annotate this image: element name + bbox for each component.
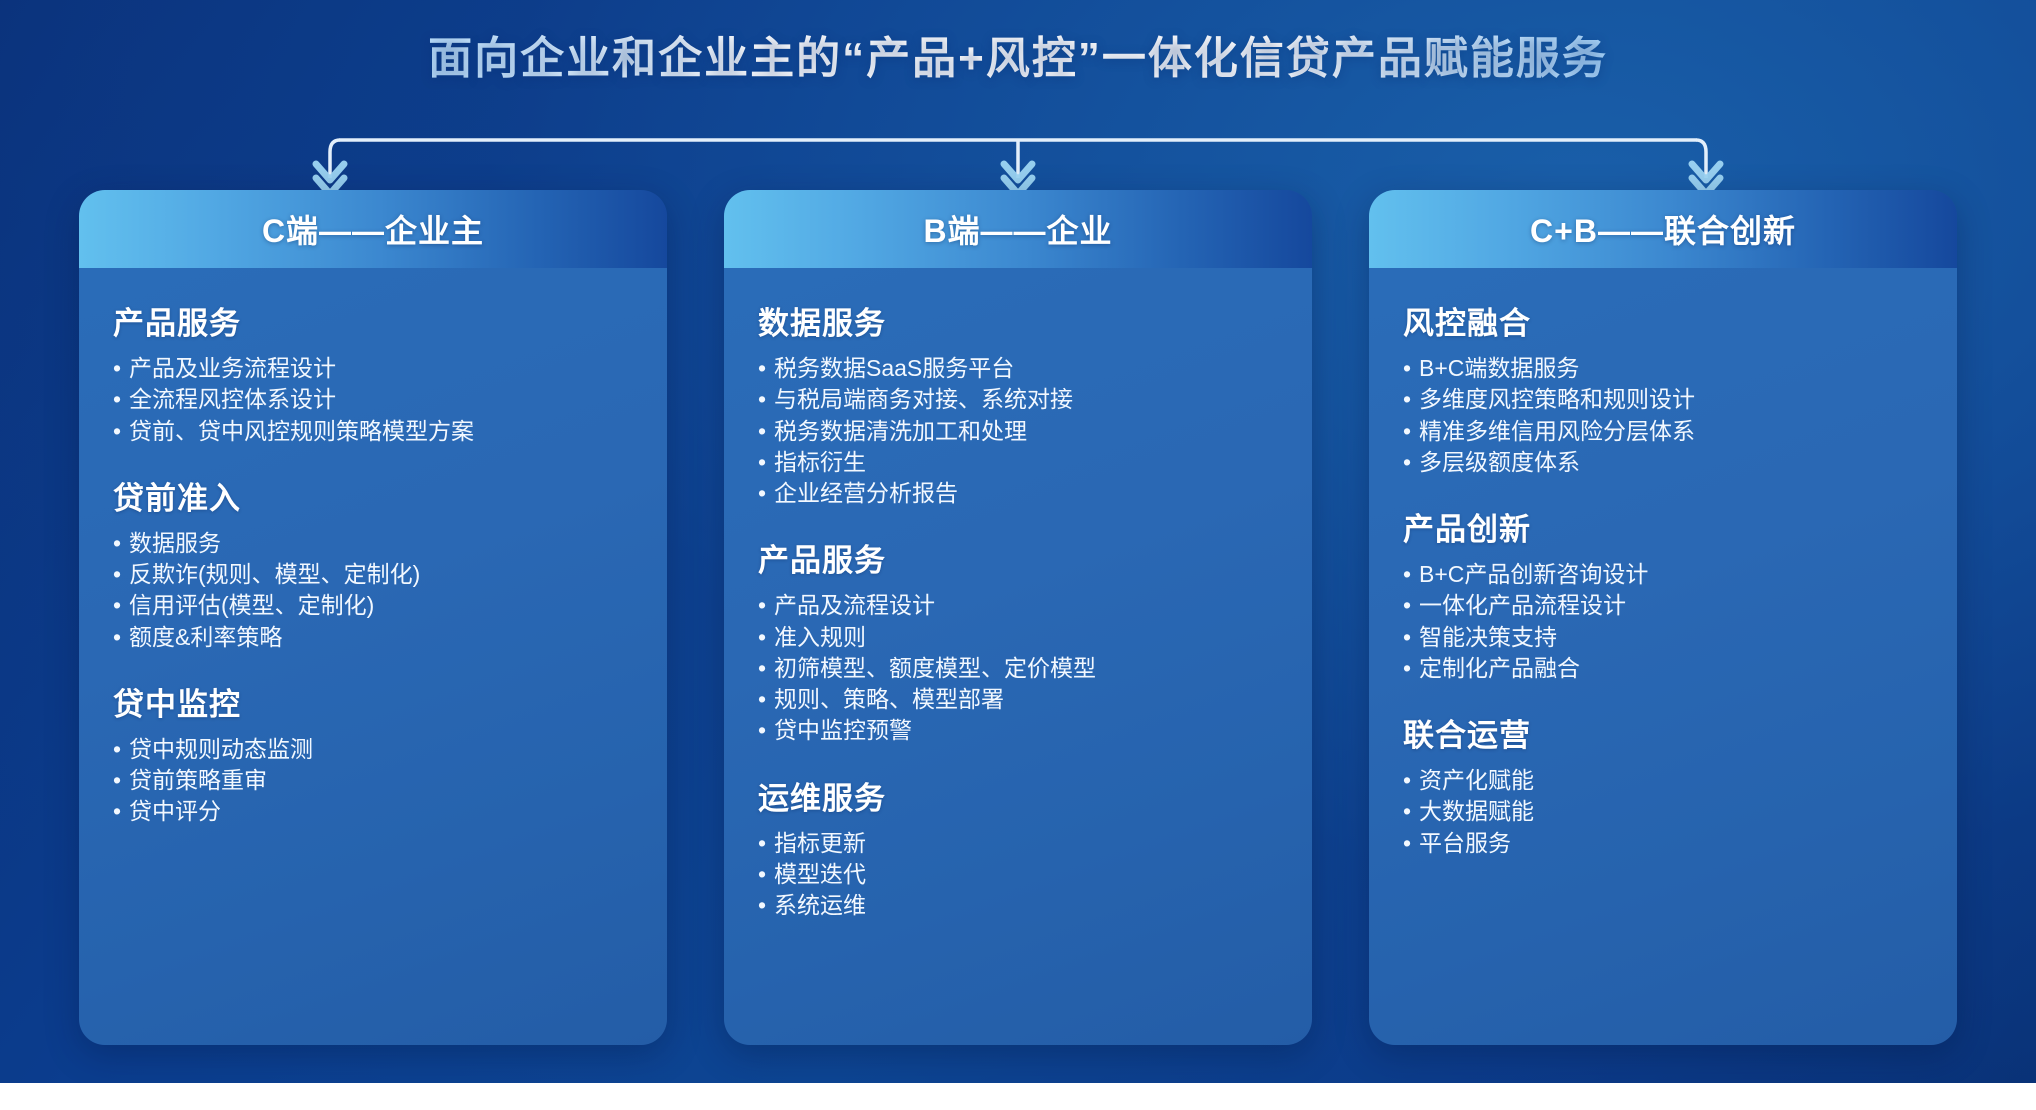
list-item: 一体化产品流程设计: [1403, 590, 1923, 621]
bullet-list: B+C产品创新咨询设计 一体化产品流程设计 智能决策支持 定制化产品融合: [1403, 559, 1923, 684]
bullet-list: 贷中规则动态监测 贷前策略重审 贷中评分: [113, 734, 633, 828]
section-group: 产品创新 B+C产品创新咨询设计 一体化产品流程设计 智能决策支持 定制化产品融…: [1403, 504, 1923, 684]
section-title: 运维服务: [758, 773, 1278, 818]
card-cb-joint[interactable]: C+B——联合创新 风控融合 B+C端数据服务 多维度风控策略和规则设计 精准多…: [1369, 190, 1957, 1045]
list-item: 税务数据SaaS服务平台: [758, 353, 1278, 384]
list-item: 模型迭代: [758, 859, 1278, 890]
list-item: 与税局端商务对接、系统对接: [758, 384, 1278, 415]
list-item: 定制化产品融合: [1403, 653, 1923, 684]
list-item: 贷中监控预警: [758, 715, 1278, 746]
list-item: 指标衍生: [758, 447, 1278, 478]
card-title: C端——企业主: [262, 206, 484, 252]
list-item: 初筛模型、额度模型、定价模型: [758, 653, 1278, 684]
section-group: 运维服务 指标更新 模型迭代 系统运维: [758, 773, 1278, 922]
card-title: C+B——联合创新: [1530, 206, 1796, 252]
bullet-list: 产品及流程设计 准入规则 初筛模型、额度模型、定价模型 规则、策略、模型部署 贷…: [758, 590, 1278, 746]
section-group: 产品服务 产品及业务流程设计 全流程风控体系设计 贷前、贷中风控规则策略模型方案: [113, 298, 633, 447]
list-item: 企业经营分析报告: [758, 478, 1278, 509]
bottom-strip: [0, 1083, 2036, 1110]
list-item: 信用评估(模型、定制化): [113, 590, 633, 621]
list-item: 贷前策略重审: [113, 765, 633, 796]
list-item: 指标更新: [758, 828, 1278, 859]
card-header-b-end: B端——企业: [724, 190, 1312, 268]
list-item: 反欺诈(规则、模型、定制化): [113, 559, 633, 590]
slide-canvas: 面向企业和企业主的“产品+风控”一体化信贷产品赋能服务 C端——企业主 产品服务: [0, 0, 2036, 1083]
list-item: 多维度风控策略和规则设计: [1403, 384, 1923, 415]
card-header-cb-joint: C+B——联合创新: [1369, 190, 1957, 268]
list-item: B+C产品创新咨询设计: [1403, 559, 1923, 590]
list-item: 贷中评分: [113, 796, 633, 827]
section-title: 联合运营: [1403, 710, 1923, 755]
section-group: 数据服务 税务数据SaaS服务平台 与税局端商务对接、系统对接 税务数据清洗加工…: [758, 298, 1278, 509]
card-c-end[interactable]: C端——企业主 产品服务 产品及业务流程设计 全流程风控体系设计 贷前、贷中风控…: [79, 190, 667, 1045]
card-b-end[interactable]: B端——企业 数据服务 税务数据SaaS服务平台 与税局端商务对接、系统对接 税…: [724, 190, 1312, 1045]
list-item: 数据服务: [113, 528, 633, 559]
section-title: 产品创新: [1403, 504, 1923, 549]
list-item: 产品及业务流程设计: [113, 353, 633, 384]
list-item: 准入规则: [758, 622, 1278, 653]
list-item: 智能决策支持: [1403, 622, 1923, 653]
bullet-list: B+C端数据服务 多维度风控策略和规则设计 精准多维信用风险分层体系 多层级额度…: [1403, 353, 1923, 478]
list-item: 规则、策略、模型部署: [758, 684, 1278, 715]
page-title: 面向企业和企业主的“产品+风控”一体化信贷产品赋能服务: [428, 22, 1608, 86]
list-item: 资产化赋能: [1403, 765, 1923, 796]
section-title: 贷中监控: [113, 679, 633, 724]
section-title: 风控融合: [1403, 298, 1923, 343]
card-body-c-end: 产品服务 产品及业务流程设计 全流程风控体系设计 贷前、贷中风控规则策略模型方案…: [79, 268, 667, 1045]
card-title: B端——企业: [923, 206, 1112, 252]
list-item: 产品及流程设计: [758, 590, 1278, 621]
list-item: 系统运维: [758, 890, 1278, 921]
card-body-b-end: 数据服务 税务数据SaaS服务平台 与税局端商务对接、系统对接 税务数据清洗加工…: [724, 268, 1312, 1045]
list-item: 全流程风控体系设计: [113, 384, 633, 415]
list-item: 多层级额度体系: [1403, 447, 1923, 478]
list-item: 大数据赋能: [1403, 796, 1923, 827]
bullet-list: 资产化赋能 大数据赋能 平台服务: [1403, 765, 1923, 859]
card-header-c-end: C端——企业主: [79, 190, 667, 268]
list-item: 精准多维信用风险分层体系: [1403, 416, 1923, 447]
list-item: 税务数据清洗加工和处理: [758, 416, 1278, 447]
list-item: 额度&利率策略: [113, 622, 633, 653]
section-title: 贷前准入: [113, 473, 633, 518]
section-title: 产品服务: [758, 535, 1278, 580]
bullet-list: 产品及业务流程设计 全流程风控体系设计 贷前、贷中风控规则策略模型方案: [113, 353, 633, 447]
list-item: 贷前、贷中风控规则策略模型方案: [113, 416, 633, 447]
section-title: 产品服务: [113, 298, 633, 343]
section-group: 风控融合 B+C端数据服务 多维度风控策略和规则设计 精准多维信用风险分层体系 …: [1403, 298, 1923, 478]
bullet-list: 税务数据SaaS服务平台 与税局端商务对接、系统对接 税务数据清洗加工和处理 指…: [758, 353, 1278, 509]
list-item: 贷中规则动态监测: [113, 734, 633, 765]
card-body-cb-joint: 风控融合 B+C端数据服务 多维度风控策略和规则设计 精准多维信用风险分层体系 …: [1369, 268, 1957, 1045]
bracket-connector: [0, 118, 2036, 196]
cards-row: C端——企业主 产品服务 产品及业务流程设计 全流程风控体系设计 贷前、贷中风控…: [0, 190, 2036, 1050]
section-group: 联合运营 资产化赋能 大数据赋能 平台服务: [1403, 710, 1923, 859]
title-container: 面向企业和企业主的“产品+风控”一体化信贷产品赋能服务: [0, 22, 2036, 86]
section-title: 数据服务: [758, 298, 1278, 343]
section-group: 产品服务 产品及流程设计 准入规则 初筛模型、额度模型、定价模型 规则、策略、模…: [758, 535, 1278, 746]
list-item: B+C端数据服务: [1403, 353, 1923, 384]
section-group: 贷前准入 数据服务 反欺诈(规则、模型、定制化) 信用评估(模型、定制化) 额度…: [113, 473, 633, 653]
section-group: 贷中监控 贷中规则动态监测 贷前策略重审 贷中评分: [113, 679, 633, 828]
list-item: 平台服务: [1403, 828, 1923, 859]
bullet-list: 指标更新 模型迭代 系统运维: [758, 828, 1278, 922]
bullet-list: 数据服务 反欺诈(规则、模型、定制化) 信用评估(模型、定制化) 额度&利率策略: [113, 528, 633, 653]
